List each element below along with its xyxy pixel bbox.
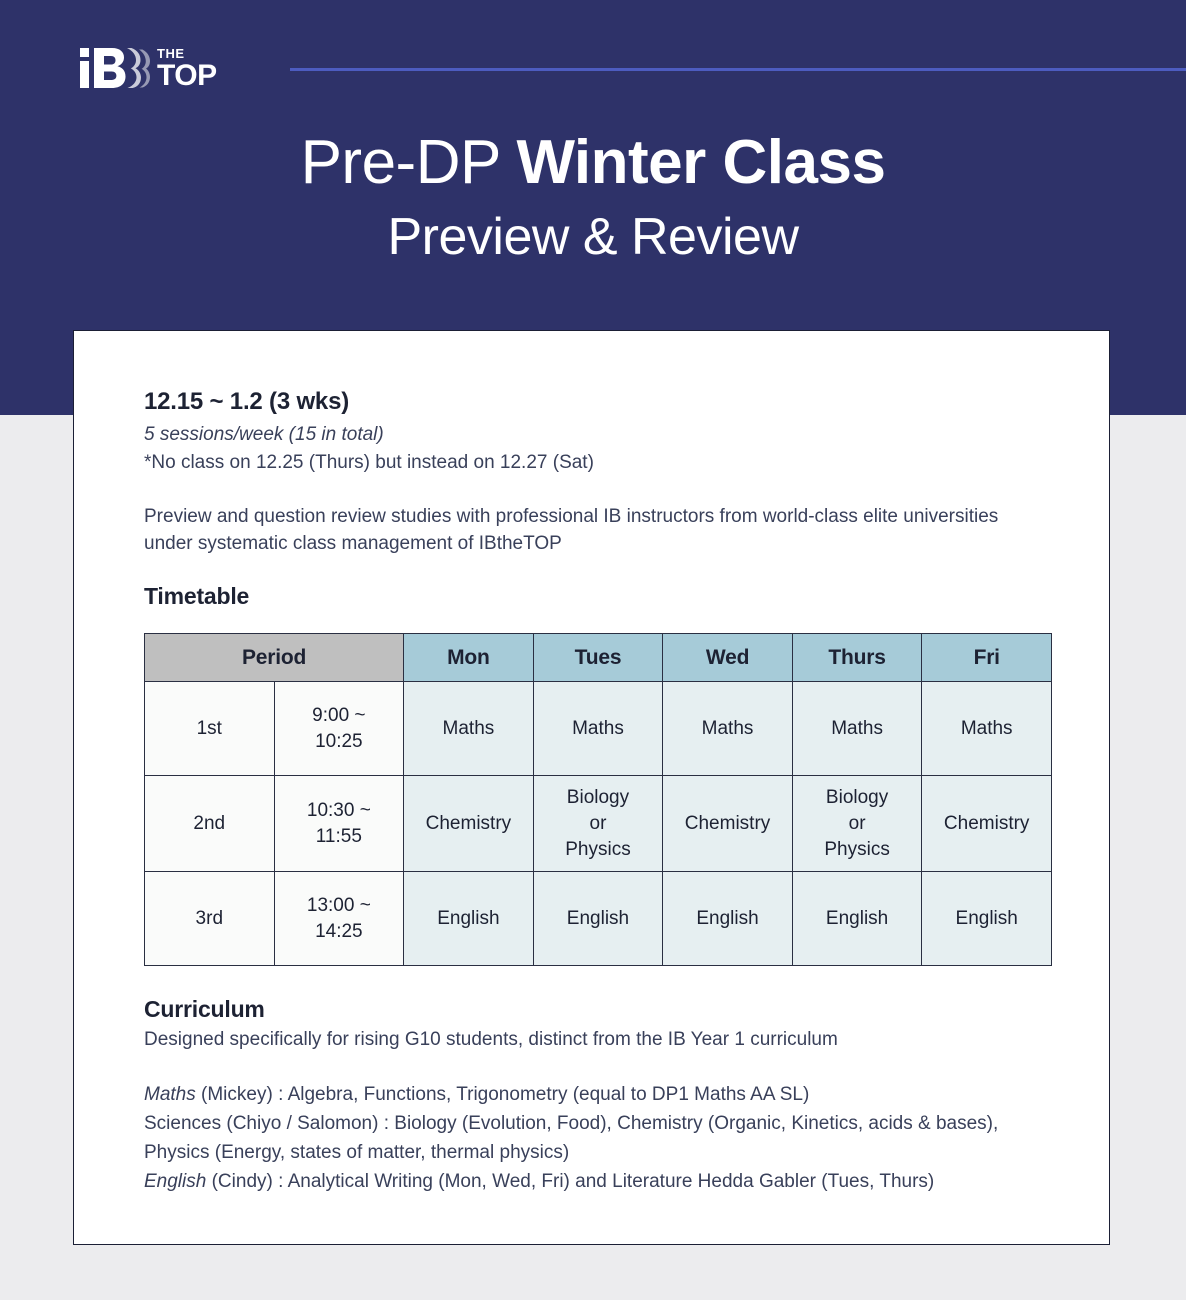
timetable-cell-2-tues: BiologyorPhysics	[533, 776, 663, 872]
timetable-time-1-line2: 10:25	[315, 731, 363, 752]
curriculum-subtitle: Designed specifically for rising G10 stu…	[144, 1026, 1054, 1054]
page-title: Pre-DP Winter Class	[0, 126, 1186, 200]
intro-paragraph: Preview and question review studies with…	[144, 503, 1024, 557]
timetable-cell-3-fri: English	[922, 872, 1052, 966]
logo-row: THE TOP	[78, 46, 1186, 94]
schedule-sessions: 5 sessions/week (15 in total)	[144, 421, 1054, 449]
timetable-cell-1-thurs: Maths	[792, 682, 922, 776]
curriculum-list: Maths (Mickey) : Algebra, Functions, Tri…	[144, 1080, 1054, 1196]
timetable-period-2: 2nd	[145, 776, 275, 872]
timetable-col-fri: Fri	[922, 634, 1052, 682]
timetable-col-thurs: Thurs	[792, 634, 922, 682]
timetable-col-mon: Mon	[404, 634, 534, 682]
brand-wordmark: THE TOP	[157, 47, 217, 91]
page-subtitle: Preview & Review	[0, 206, 1186, 268]
timetable-body: 1st 9:00 ~ 10:25 Maths Maths Maths Maths…	[145, 682, 1052, 966]
timetable-time-3-line1: 13:00 ~	[307, 895, 371, 916]
page-title-block: Pre-DP Winter Class Preview & Review	[0, 126, 1186, 268]
schedule-note: *No class on 12.25 (Thurs) but instead o…	[144, 449, 1054, 477]
curriculum-entry-maths: Maths (Mickey) : Algebra, Functions, Tri…	[144, 1080, 1054, 1109]
curriculum-heading: Curriculum	[144, 994, 1054, 1024]
page-title-regular: Pre-DP	[301, 128, 517, 197]
page-title-bold: Winter Class	[516, 128, 885, 197]
timetable-cell-1-tues: Maths	[533, 682, 663, 776]
timetable-cell-2-fri: Chemistry	[922, 776, 1052, 872]
timetable-col-tues: Tues	[533, 634, 663, 682]
timetable-heading: Timetable	[144, 581, 1054, 611]
curriculum-entry-english: English (Cindy) : Analytical Writing (Mo…	[144, 1167, 1054, 1196]
timetable-time-2-line2: 11:55	[316, 826, 362, 847]
timetable-time-2: 10:30 ~ 11:55	[274, 776, 404, 872]
timetable-time-1-line1: 9:00 ~	[312, 705, 365, 726]
timetable-cell-2-wed: Chemistry	[663, 776, 793, 872]
table-row: 3rd 13:00 ~ 14:25 English English Englis…	[145, 872, 1052, 966]
content-card-inner: 12.15 ~ 1.2 (3 wks) 5 sessions/week (15 …	[144, 387, 1054, 1196]
schedule-dates: 12.15 ~ 1.2 (3 wks)	[144, 387, 1054, 417]
table-row: 1st 9:00 ~ 10:25 Maths Maths Maths Maths…	[145, 682, 1052, 776]
header-accent-rule	[290, 68, 1186, 71]
brand-logo[interactable]: THE TOP	[78, 46, 217, 94]
timetable-header-row: Period Mon Tues Wed Thurs Fri	[145, 634, 1052, 682]
timetable-cell-2-thurs: BiologyorPhysics	[792, 776, 922, 872]
timetable-cell-3-tues: English	[533, 872, 663, 966]
timetable: Period Mon Tues Wed Thurs Fri 1st 9:00 ~…	[144, 633, 1052, 966]
timetable-cell-2-mon: Chemistry	[404, 776, 534, 872]
curriculum-subject-maths: Maths	[144, 1084, 196, 1105]
table-row: 2nd 10:30 ~ 11:55 Chemistry BiologyorPhy…	[145, 776, 1052, 872]
timetable-time-1: 9:00 ~ 10:25	[274, 682, 404, 776]
timetable-col-period: Period	[145, 634, 404, 682]
timetable-period-1: 1st	[145, 682, 275, 776]
timetable-time-3: 13:00 ~ 14:25	[274, 872, 404, 966]
timetable-cell-3-thurs: English	[792, 872, 922, 966]
timetable-cell-1-fri: Maths	[922, 682, 1052, 776]
timetable-head: Period Mon Tues Wed Thurs Fri	[145, 634, 1052, 682]
ib-logo-mark-icon	[78, 46, 150, 95]
curriculum-entry-sciences: Sciences (Chiyo / Salomon) : Biology (Ev…	[144, 1109, 1054, 1167]
timetable-cell-1-wed: Maths	[663, 682, 793, 776]
curriculum-subject-sciences: Sciences	[144, 1113, 221, 1134]
timetable-col-wed: Wed	[663, 634, 793, 682]
timetable-period-3: 3rd	[145, 872, 275, 966]
timetable-cell-1-mon: Maths	[404, 682, 534, 776]
curriculum-detail-sciences: (Chiyo / Salomon) : Biology (Evolution, …	[144, 1113, 998, 1163]
timetable-cell-3-wed: English	[663, 872, 793, 966]
timetable-time-3-line2: 14:25	[315, 921, 363, 942]
brand-top-label: TOP	[157, 61, 217, 91]
curriculum-subject-english: English	[144, 1171, 206, 1192]
curriculum-detail-english: (Cindy) : Analytical Writing (Mon, Wed, …	[206, 1171, 934, 1192]
timetable-time-2-line1: 10:30 ~	[307, 800, 371, 821]
curriculum-detail-maths: (Mickey) : Algebra, Functions, Trigonome…	[196, 1084, 810, 1105]
content-card: 12.15 ~ 1.2 (3 wks) 5 sessions/week (15 …	[73, 330, 1110, 1245]
timetable-cell-3-mon: English	[404, 872, 534, 966]
